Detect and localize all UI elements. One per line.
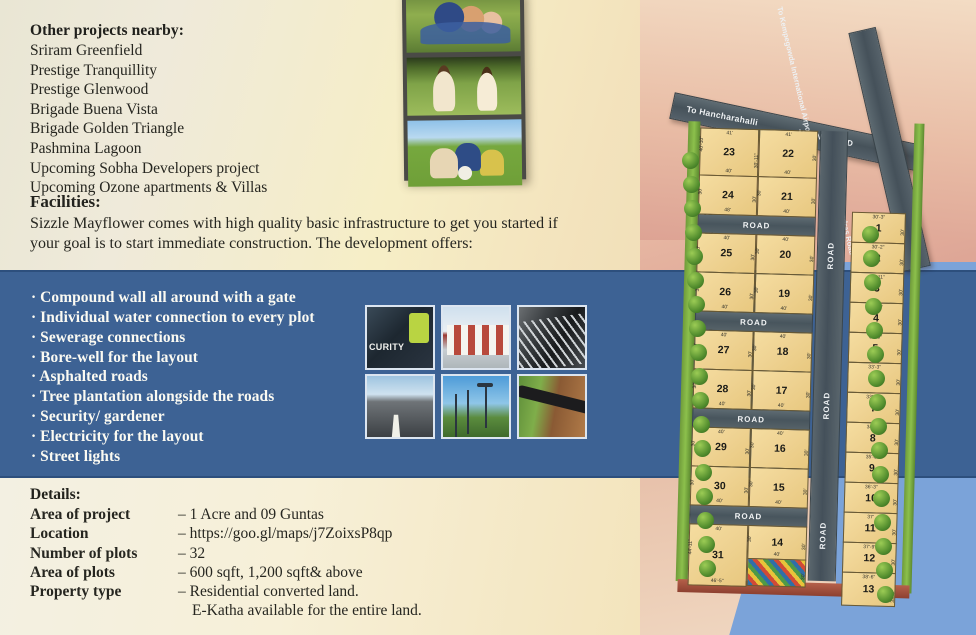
- details-section: Details: Area of project – 1 Acre and 09…: [30, 486, 590, 621]
- plot-number: 22: [782, 148, 794, 160]
- nearby-project-item: Prestige Glenwood: [30, 80, 390, 100]
- plot-dim-right: 30': [807, 353, 813, 360]
- security-photo-caption: CURITY: [369, 342, 404, 352]
- plot-dim-top: 40': [782, 237, 789, 243]
- plot-cell[interactable]: 30' 30' 40' 21: [757, 176, 817, 218]
- plot-cell-photo[interactable]: 30': [747, 558, 807, 588]
- details-heading: Details:: [30, 486, 590, 504]
- top-photo-collage: [402, 0, 526, 181]
- plot-dim-right: 30': [804, 449, 810, 456]
- plot-dim-top: 41': [785, 132, 792, 138]
- plot-dim-left: 40'-10": [699, 136, 705, 152]
- details-row: Property type – Residential converted la…: [30, 582, 590, 601]
- plot-number: 20: [779, 249, 791, 261]
- details-extra-value: E-Katha available for the entire land.: [178, 601, 590, 620]
- nearby-project-item: Brigade Golden Triangle: [30, 119, 390, 139]
- plot-number: 17: [775, 385, 787, 397]
- details-row: Area of project – 1 Acre and 09 Guntas: [30, 505, 590, 524]
- plot-dim-top: 37': [867, 514, 874, 520]
- facility-list-item: · Tree plantation alongside the roads: [31, 387, 361, 407]
- plot-dim-bottom: 40': [774, 552, 781, 558]
- details-label: Number of plots: [30, 544, 178, 563]
- plot-dim-right: 30': [898, 319, 904, 326]
- plot-dim-right: 30': [892, 528, 898, 535]
- plot-cell[interactable]: 40' 30' 30' 18: [753, 331, 813, 373]
- plot-dim-left: 30': [751, 383, 757, 390]
- plot-dim-right: 30': [801, 573, 807, 580]
- plot-dim-bottom: 40': [783, 209, 790, 215]
- details-value: – 600 sqft, 1,200 sqft& above: [178, 563, 590, 582]
- details-value: – Residential converted land.: [178, 582, 590, 601]
- plot-cell[interactable]: 30' 30' 40' 14: [747, 525, 807, 561]
- plot-dim-right: 30': [899, 289, 905, 296]
- plot-dim-left: 30': [747, 535, 753, 542]
- plot-dim-right: 30': [810, 256, 816, 263]
- details-value: – 1 Acre and 09 Guntas: [178, 505, 590, 524]
- plot-cell[interactable]: 40' 44'-11" 46'-5" 31: [688, 523, 749, 587]
- facilities-intro-text: Sizzle Mayflower comes with high quality…: [30, 214, 570, 255]
- plot-number: 15: [773, 482, 785, 494]
- plot-number: 24: [722, 189, 734, 201]
- plot-dim-left: 30': [754, 286, 760, 293]
- vertical-road-label: ROAD: [818, 522, 828, 550]
- plot-dim-right: 30': [812, 155, 818, 162]
- details-row-extra: E-Katha available for the entire land.: [30, 601, 590, 620]
- plot-dim-bottom: 40': [780, 306, 787, 312]
- plot-dim-right: 30': [896, 379, 902, 386]
- plot-cell[interactable]: 30' 30' 48' 24: [698, 174, 758, 216]
- plot-dim-left: 30': [752, 344, 758, 351]
- plot-dim-bottom: 46'-5": [711, 578, 724, 584]
- plot-dim-bottom: 40': [716, 498, 723, 504]
- facility-list-item: · Security/ gardener: [31, 407, 361, 427]
- family-on-lawn-photo: [407, 119, 522, 186]
- plot-cell[interactable]: 30' 30' 40' 19: [754, 273, 814, 315]
- facility-list-item: · Bore-well for the layout: [31, 348, 361, 368]
- plot-dim-bottom: 40': [775, 500, 782, 506]
- vertical-road-label: ROAD: [826, 242, 836, 270]
- security-guard-photo: CURITY: [365, 305, 435, 370]
- plot-cell[interactable]: 30'-3" 30' 1: [851, 212, 906, 244]
- two-girls-playing-photo: [407, 56, 522, 115]
- plot-dim-bottom: 40': [719, 401, 726, 407]
- nearby-projects-section: Other projects nearby: Sriram Greenfield…: [30, 22, 390, 198]
- details-row: Area of plots – 600 sqft, 1,200 sqft& ab…: [30, 563, 590, 582]
- plot-number: 13: [862, 583, 874, 595]
- plot-dim-top: 40': [723, 235, 730, 241]
- plot-dim-left: 30': [756, 190, 762, 197]
- details-label: Area of project: [30, 505, 178, 524]
- plot-dim-left: 30': [755, 248, 761, 255]
- plot-number: 26: [719, 286, 731, 298]
- plot-number: 31: [712, 549, 724, 561]
- plot-number: 14: [771, 537, 783, 549]
- plot-dim-right: 30': [811, 198, 817, 205]
- nearby-project-item: Brigade Buena Vista: [30, 100, 390, 120]
- plot-dim-right: 30': [895, 439, 901, 446]
- plot-dim-right: 30': [900, 259, 906, 266]
- details-value[interactable]: – https://goo.gl/maps/j7ZoixsP8qp: [178, 524, 590, 543]
- plot-dim-right: 30': [893, 498, 899, 505]
- plot-dim-top: 30'-3": [872, 214, 885, 220]
- plot-cell[interactable]: 40' 30' 30' 20: [755, 234, 815, 276]
- plot-dim-bottom: 40': [778, 403, 785, 409]
- street-lights-photo: [441, 374, 511, 439]
- facility-list-item: · Individual water connection to every p…: [31, 308, 361, 328]
- plot-dim-bottom: 48': [724, 207, 731, 213]
- plot-cell[interactable]: 30' 30' 40' 17: [751, 370, 811, 412]
- plot-dim-left: 30': [689, 479, 695, 486]
- facilities-section: Facilities: Sizzle Mayflower comes with …: [30, 192, 570, 255]
- pipeline-trench-photo: [517, 374, 587, 439]
- plot-dim-bottom: 40': [725, 168, 732, 174]
- compound-wall-photo: [441, 305, 511, 370]
- plot-dim-right: 30': [802, 543, 808, 550]
- vertical-road-label: ROAD: [822, 392, 832, 420]
- plot-dim-right: 30': [900, 229, 906, 236]
- nearby-project-item: Pashmina Lagoon: [30, 139, 390, 159]
- facility-list-item: · Electricity for the layout: [31, 427, 361, 447]
- nearby-project-item: Upcoming Sobha Developers project: [30, 159, 390, 179]
- brochure-page: Other projects nearby: Sriram Greenfield…: [0, 0, 976, 635]
- facility-list-item: · Street lights: [31, 447, 361, 467]
- facilities-photo-grid: CURITY: [365, 305, 589, 443]
- plot-dim-top: 41': [726, 130, 733, 136]
- plot-dim-right: 30': [895, 409, 901, 416]
- plot-number: 25: [720, 247, 732, 259]
- plot-dim-left: 30': [749, 441, 755, 448]
- plot-dim-right: 30': [806, 392, 812, 399]
- plot-dim-left: 44'-11": [687, 539, 693, 554]
- facility-list-item: · Asphalted roads: [31, 367, 361, 387]
- details-row: Location – https://goo.gl/maps/j7ZoixsP8…: [30, 524, 590, 543]
- plot-number: 21: [781, 191, 793, 203]
- details-value: – 32: [178, 544, 590, 563]
- nearby-project-item: Prestige Tranquillity: [30, 61, 390, 81]
- plot-dim-right: 30': [894, 469, 900, 476]
- plot-dim-right: 30': [809, 295, 815, 302]
- site-layout-map: Bank Loan Viable plots To Hancharahalli …: [640, 0, 976, 635]
- facilities-list: · Compound wall all around with a gate ·…: [31, 288, 361, 467]
- plot-number: 29: [715, 441, 727, 453]
- drain-grating-photo: [517, 305, 587, 370]
- facility-list-item: · Compound wall all around with a gate: [31, 288, 361, 308]
- plot-dim-top: 40': [715, 526, 722, 532]
- plot-number: 27: [718, 344, 730, 356]
- plot-dim-top: 40': [718, 429, 725, 435]
- plot-dim-left: 30': [748, 480, 754, 487]
- details-label: Area of plots: [30, 563, 178, 582]
- plot-cell[interactable]: 37' 30' 11: [843, 512, 898, 544]
- plot-cell[interactable]: 41' 40'-10" 30'-11" 40' 23: [699, 127, 759, 177]
- details-label: Property type: [30, 582, 178, 601]
- plot-cell[interactable]: 41' 30' 40' 22: [758, 129, 818, 179]
- plot-number: 18: [777, 346, 789, 358]
- asphalt-road-photo: [365, 374, 435, 439]
- details-row: Number of plots – 32: [30, 544, 590, 563]
- plot-dim-top: 38'-6": [862, 574, 875, 580]
- nearby-project-item: Sriram Greenfield: [30, 41, 390, 61]
- plot-layout-block: ROAD ROAD ROAD 41' 40'-10" 30'-11" 40' 2…: [682, 127, 894, 582]
- nearby-projects-heading: Other projects nearby:: [30, 22, 390, 40]
- plot-number: 19: [778, 288, 790, 300]
- facility-list-item: · Sewerage connections: [31, 328, 361, 348]
- children-playing-grass-photo: [406, 0, 521, 53]
- plot-dim-top: 36'-3": [865, 484, 878, 490]
- plot-number: 28: [717, 383, 729, 395]
- facilities-heading: Facilities:: [30, 192, 570, 212]
- plot-dim-top: 40': [721, 332, 728, 338]
- plot-cell[interactable]: 35'-6" 30' 9: [844, 452, 899, 484]
- plot-number: 16: [774, 443, 786, 455]
- plot-cell[interactable]: 30' 30' 40' 15: [749, 467, 809, 509]
- plot-dim-top: 40': [780, 334, 787, 340]
- plot-dim-right: 30': [803, 488, 809, 495]
- plot-cell[interactable]: 40' 30' 30' 16: [750, 428, 810, 470]
- details-label: Location: [30, 524, 178, 543]
- plot-dim-bottom: 40': [721, 304, 728, 310]
- plot-dim-right: 30': [891, 558, 897, 565]
- plot-number: 12: [863, 552, 875, 564]
- plot-cell[interactable]: 40' 30' 30' 25: [696, 232, 756, 274]
- plot-dim-top: 40': [777, 431, 784, 437]
- plot-cell[interactable]: 36'-3" 30' 10: [844, 482, 899, 514]
- plot-dim-bottom: 40': [784, 170, 791, 176]
- plot-number: 23: [723, 146, 735, 158]
- plot-number: 30: [714, 480, 726, 492]
- plot-dim-right: 30': [897, 349, 903, 356]
